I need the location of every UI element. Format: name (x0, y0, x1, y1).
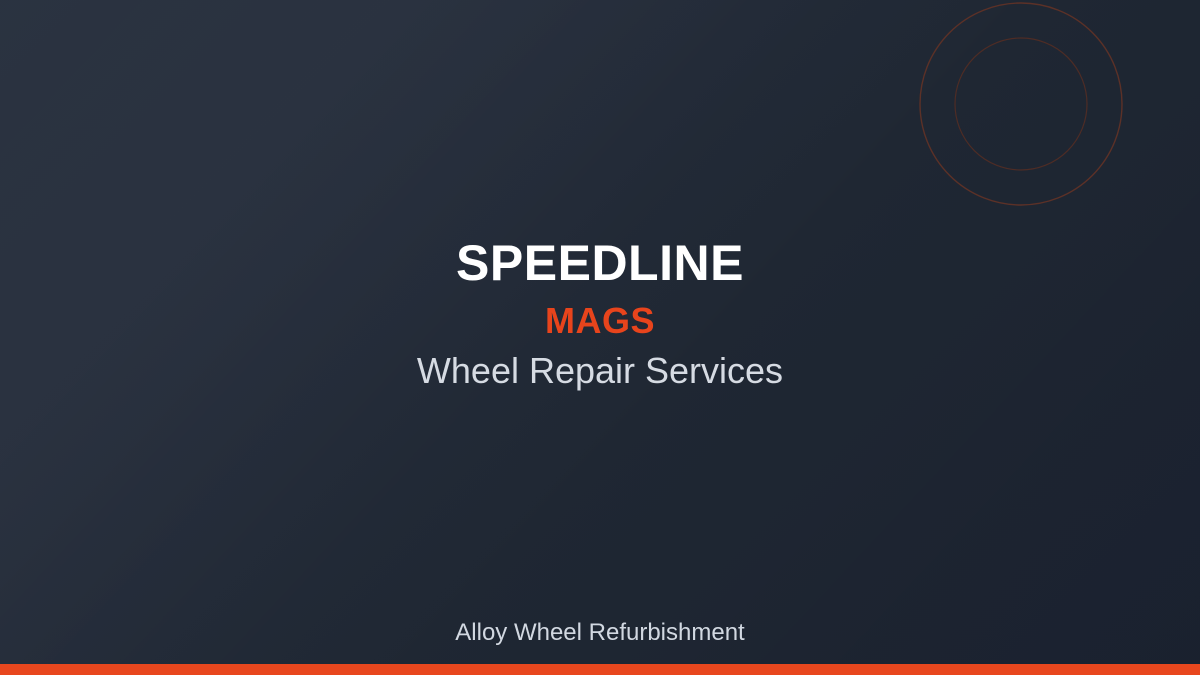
decorative-ring-outer (920, 3, 1122, 205)
slide-subtitle: Wheel Repair Services (0, 349, 1200, 392)
title-text-block: SPEEDLINE MAGS Wheel Repair Services (0, 236, 1200, 392)
brand-name-secondary: MAGS (0, 298, 1200, 343)
decorative-ring-inner (955, 38, 1087, 170)
decorative-rings-group (900, 0, 1200, 230)
footer-caption: Alloy Wheel Refurbishment (0, 619, 1200, 647)
brand-name-primary: SPEEDLINE (0, 236, 1200, 290)
title-slide: SPEEDLINE MAGS Wheel Repair Services All… (0, 0, 1200, 675)
bottom-accent-bar (0, 664, 1200, 675)
